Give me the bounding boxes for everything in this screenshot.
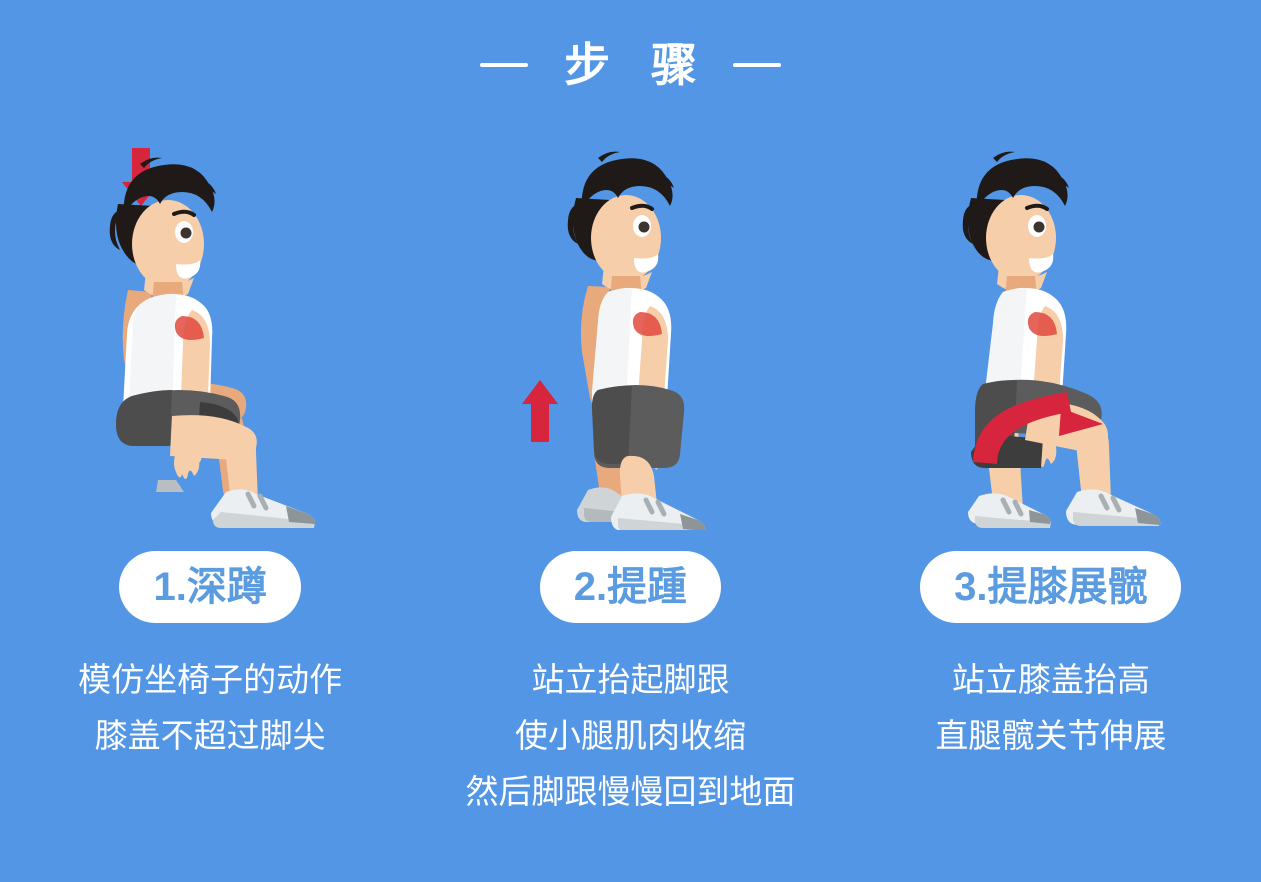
description-line: 站立膝盖抬高 xyxy=(841,652,1261,708)
step-pill-label-2: 2.提踵 xyxy=(574,567,687,607)
squat-figure-svg xyxy=(80,140,340,530)
step-description-3: 站立膝盖抬高 直腿髋关节伸展 xyxy=(841,652,1261,764)
steps-container: 1.深蹲 模仿坐椅子的动作 膝盖不超过脚尖 xyxy=(0,0,1261,882)
description-line: 模仿坐椅子的动作 xyxy=(0,652,420,708)
step-pill-label-3: 3.提膝展髋 xyxy=(954,567,1147,607)
step-card-1: 1.深蹲 模仿坐椅子的动作 膝盖不超过脚尖 xyxy=(0,0,420,882)
step-description-2: 站立抬起脚跟 使小腿肌肉收缩 然后脚跟慢慢回到地面 xyxy=(420,652,840,820)
shoe-icon xyxy=(611,493,705,530)
shoe-icon xyxy=(1066,489,1160,526)
knee-raise-figure-svg xyxy=(921,140,1181,530)
description-line: 然后脚跟慢慢回到地面 xyxy=(420,764,840,820)
calf-raise-figure-svg xyxy=(500,140,760,530)
description-line: 直腿髋关节伸展 xyxy=(841,708,1261,764)
description-line: 站立抬起脚跟 xyxy=(420,652,840,708)
up-arrow-icon xyxy=(522,380,558,442)
shoe-icon xyxy=(211,489,315,528)
step-card-2: 2.提踵 站立抬起脚跟 使小腿肌肉收缩 然后脚跟慢慢回到地面 xyxy=(420,0,840,882)
shoe-icon xyxy=(968,493,1051,528)
calf-raise-figure xyxy=(420,140,840,530)
step-pill-3[interactable]: 3.提膝展髋 xyxy=(920,551,1181,623)
step-pill-2[interactable]: 2.提踵 xyxy=(540,551,721,623)
knee-raise-figure xyxy=(841,140,1261,530)
step-pill-label-1: 1.深蹲 xyxy=(153,567,266,607)
description-line: 使小腿肌肉收缩 xyxy=(420,708,840,764)
description-line: 膝盖不超过脚尖 xyxy=(0,708,420,764)
step-card-3: 3.提膝展髋 站立膝盖抬高 直腿髋关节伸展 xyxy=(841,0,1261,882)
step-pill-1[interactable]: 1.深蹲 xyxy=(119,551,300,623)
step-description-1: 模仿坐椅子的动作 膝盖不超过脚尖 xyxy=(0,652,420,764)
squat-figure xyxy=(0,140,420,530)
